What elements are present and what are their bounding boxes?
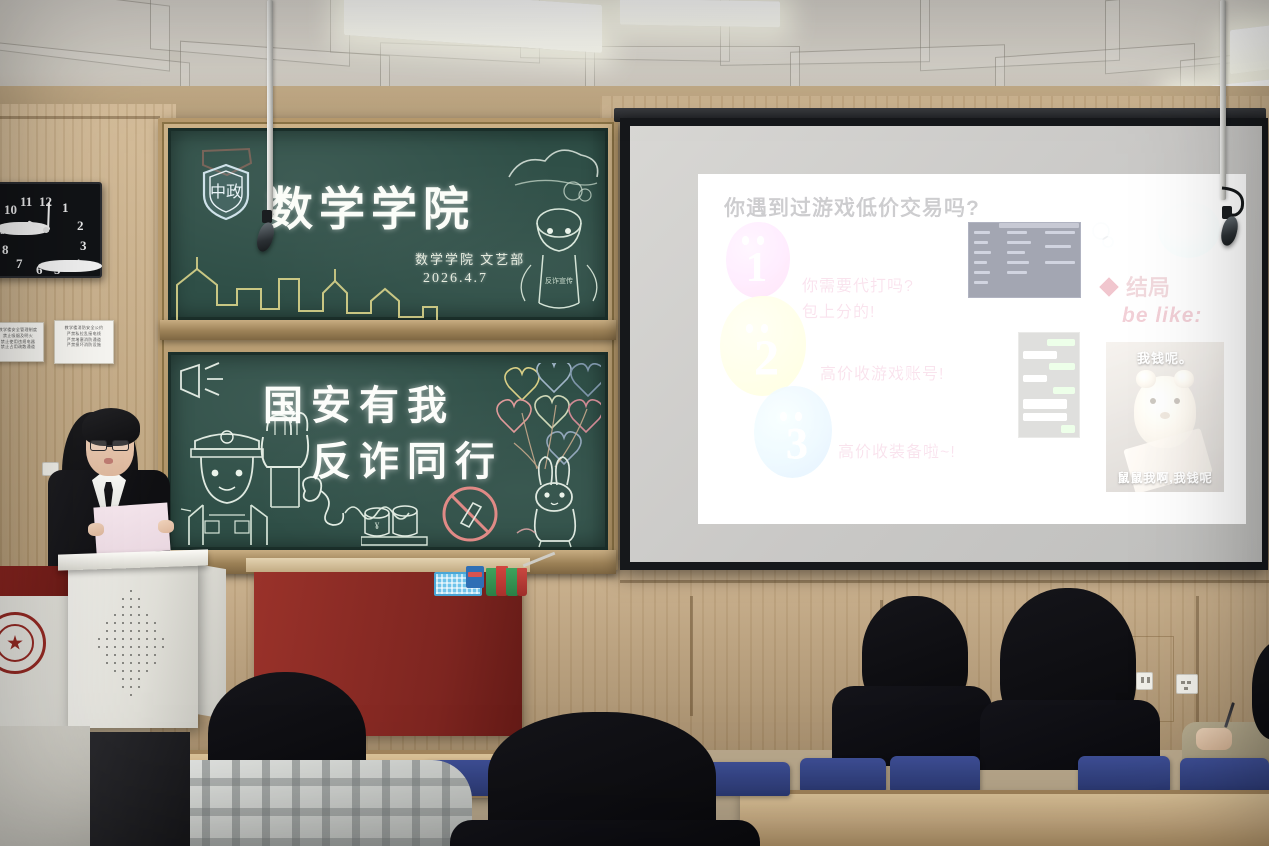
blackboard-slogan-line1: 国安有我 <box>263 373 455 431</box>
presenter-hand-left <box>88 523 104 536</box>
mascot-blob-3-number: 3 <box>786 418 808 469</box>
clock-number: 2 <box>77 218 84 234</box>
power-outlet[interactable] <box>1176 674 1198 694</box>
svg-text:反诈宣传: 反诈宣传 <box>545 276 573 285</box>
raised-fist-doodle <box>253 401 321 511</box>
ceiling-mic-left-pole <box>267 0 273 218</box>
ceiling-mic-right-pole <box>1220 0 1226 200</box>
slide-title: 你遇到过游戏低价交易吗? <box>724 192 980 222</box>
presenter-mouth <box>104 458 113 464</box>
mascot-blob-1-number: 1 <box>746 244 767 292</box>
audience-hand <box>1196 728 1232 750</box>
police-officer-doodle <box>175 411 285 547</box>
clock-number: 11 <box>20 194 32 210</box>
meme-caption-top: 我钱呢。 <box>1106 348 1224 367</box>
game-ranking-screenshot <box>968 222 1081 298</box>
presenter-glasses-bridge <box>107 445 113 447</box>
audience-body-back-left <box>832 686 992 766</box>
svg-text:¥: ¥ <box>375 521 380 531</box>
slide-item-2-line1: 高价收游戏账号! <box>820 360 944 384</box>
slide-item-3-line1: 高价收装备啦~! <box>838 438 956 462</box>
presenter-glasses-left <box>90 440 107 451</box>
presenter-glasses-right <box>112 440 129 451</box>
clock-number: 10 <box>4 202 17 218</box>
slide-right-label-cn: 结局 <box>1126 270 1170 302</box>
poster-line: 教学楼安全管理制度 <box>0 327 40 333</box>
money-stacks-doodle: ¥ <box>361 503 437 551</box>
chair[interactable] <box>1078 756 1170 792</box>
clock-number: 3 <box>80 238 87 254</box>
audience-body-front-right <box>450 820 760 846</box>
mascot-blob-2-number: 2 <box>754 328 779 386</box>
chair[interactable] <box>1180 758 1269 794</box>
rabbit-doodle <box>515 451 601 549</box>
blackboard-subtitle: 数学学院 文艺部 <box>415 249 525 268</box>
slide-item-1-line2: 包上分的! <box>802 298 875 322</box>
poster-line: 教学楼消防安全公约 <box>58 325 110 331</box>
speaker-grille-panel <box>96 588 168 700</box>
floor-speaker <box>76 732 190 846</box>
presenter-hand-right <box>158 520 174 533</box>
heart-balloons-doodle <box>489 363 601 489</box>
cloud-doodle <box>501 137 605 203</box>
wall-clock: 12 1 2 3 4 5 6 7 8 9 10 11 <box>0 182 102 278</box>
podium-base <box>0 726 90 846</box>
diamond-bullet-icon <box>1099 277 1119 297</box>
hamster-ear <box>1174 370 1194 388</box>
chair[interactable] <box>890 756 980 792</box>
city-skyline-doodle <box>175 249 475 323</box>
notice-poster-right: 教学楼消防安全公约 严禁私拉乱接电线 严禁堵塞消防通道 严禁损坏消防设施 <box>54 320 114 364</box>
audience-plaid-shirt <box>142 760 472 846</box>
telephone-doodle <box>299 473 429 529</box>
shield-emblem-icon: 中政 <box>193 145 259 223</box>
ceiling-mic-left-clip <box>262 210 272 223</box>
blackboard-date: 2026.4.7 <box>423 271 488 287</box>
slide-item-1-line1: 你需要代打吗? <box>802 272 914 296</box>
wechat-chat-screenshot <box>1018 332 1080 438</box>
squiggle-decoration <box>1102 236 1114 248</box>
blackboard-bottom-panel: ¥ 国安有我 反 <box>168 352 608 550</box>
blue-tub <box>466 566 484 588</box>
presentation-slide: 你遇到过游戏低价交易吗? 1 2 3 你需要代打吗? 包上分的! 高价收游戏账号… <box>698 174 1246 524</box>
blackboard-top-panel: 中政 反诈宣传 数学学院 数学学院 文艺部 2026.4. <box>168 128 608 320</box>
blackboard-slogan-line2: 反诈同行 <box>311 429 503 487</box>
hamster-meme-image: 我钱呢。 鼠鼠我啊,我钱呢 <box>1106 342 1224 492</box>
notice-poster-left: 教学楼安全管理制度 禁止吸烟及明火 禁止使用违规电器 禁止占用疏散通道 <box>0 322 44 362</box>
poster-line: 严禁损坏消防设施 <box>58 342 110 348</box>
clock-number: 7 <box>16 256 23 272</box>
anime-character-doodle: 反诈宣传 <box>509 193 609 321</box>
meme-caption-bottom: 鼠鼠我啊,我钱呢 <box>1106 469 1224 486</box>
clock-number: 8 <box>2 242 9 258</box>
poster-line: 禁止占用疏散通道 <box>0 344 40 350</box>
no-entry-sign-doodle <box>439 483 501 545</box>
hamster-ear <box>1136 370 1156 388</box>
ceiling-light <box>620 0 780 27</box>
clock-number: 1 <box>62 200 69 216</box>
megaphone-doodle <box>177 361 235 401</box>
projection-screen: 你遇到过游戏低价交易吗? 1 2 3 你需要代打吗? 包上分的! 高价收游戏账号… <box>630 126 1262 562</box>
desk-row-back <box>740 792 1269 846</box>
slide-right-label-en: be like: <box>1122 304 1202 328</box>
ceiling-light <box>1230 22 1269 75</box>
flower-decoration <box>1158 202 1220 258</box>
chair[interactable] <box>800 758 886 792</box>
classroom-scene: 12 1 2 3 4 5 6 7 8 9 10 11 教学楼安全管理制度 禁止吸… <box>0 0 1269 846</box>
blackboard-main-title: 数学学院 <box>267 173 475 239</box>
red-cup <box>517 568 527 596</box>
svg-text:中政: 中政 <box>210 183 242 201</box>
